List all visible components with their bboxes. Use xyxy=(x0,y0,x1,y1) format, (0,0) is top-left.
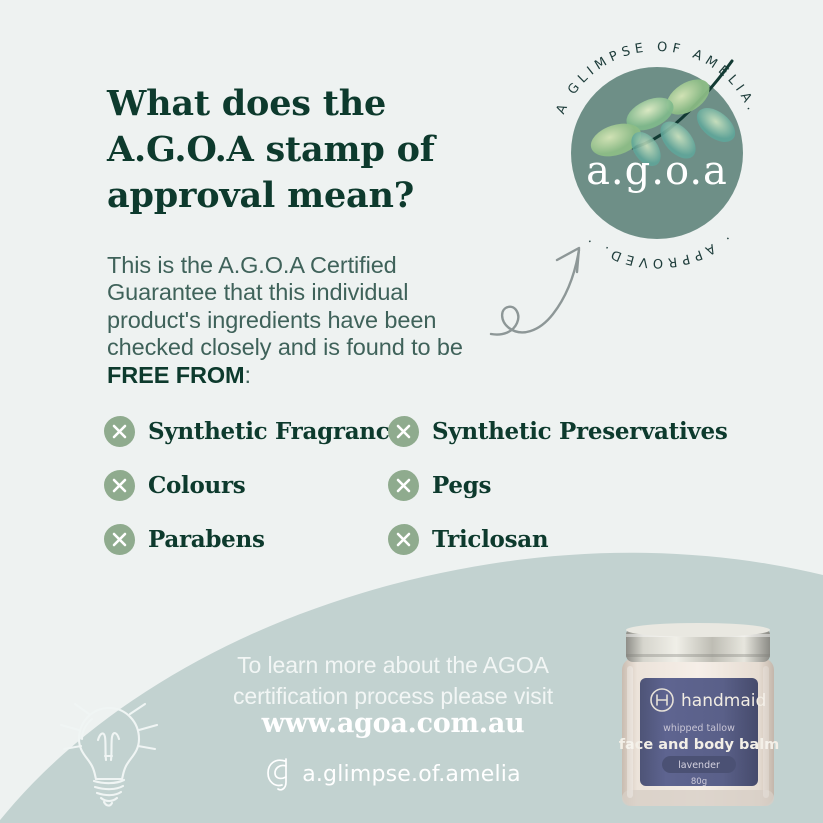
intro-paragraph: This is the A.G.O.A Certified Guarantee … xyxy=(107,252,499,390)
free-from-checklist: Synthetic Fragrance Synthetic Preservati… xyxy=(104,404,744,566)
product-name: face and body balm xyxy=(619,737,780,753)
at-monogram-icon xyxy=(265,752,295,797)
brand-name: handmaid xyxy=(681,691,766,711)
page-title: What does the A.G.O.A stamp of approval … xyxy=(107,81,527,219)
lightbulb-icon xyxy=(48,694,170,812)
checklist-label: Pegs xyxy=(432,472,491,499)
product-jar-image: handmaid whipped tallow face and body ba… xyxy=(600,614,796,823)
intro-lead: This is the A.G.O.A Certified Guarantee … xyxy=(107,252,463,361)
checklist-label: Colours xyxy=(148,472,245,499)
checklist-row: Synthetic Fragrance Synthetic Preservati… xyxy=(104,404,744,458)
free-from-emphasis: FREE FROM xyxy=(107,362,244,388)
checklist-item: Colours xyxy=(104,470,388,501)
checklist-item: Synthetic Preservatives xyxy=(388,416,744,447)
cross-icon xyxy=(388,470,419,501)
product-descriptor: whipped tallow xyxy=(663,723,735,734)
cross-icon xyxy=(388,416,419,447)
checklist-item: Synthetic Fragrance xyxy=(104,416,388,447)
logo-wordmark: a.g.o.a xyxy=(586,148,728,194)
checklist-row: Parabens Triclosan xyxy=(104,512,744,566)
website-url[interactable]: www.agoa.com.au xyxy=(183,708,603,739)
banner-caption: To learn more about the AGOA certificati… xyxy=(183,650,603,712)
checklist-item: Pegs xyxy=(388,470,744,501)
cross-icon xyxy=(104,524,135,555)
checklist-label: Synthetic Preservatives xyxy=(432,418,727,445)
cross-icon xyxy=(104,416,135,447)
checklist-item: Triclosan xyxy=(388,524,744,555)
banner-caption-line-1: To learn more about the AGOA xyxy=(183,650,603,681)
product-size: 80g xyxy=(691,777,707,787)
checklist-label: Synthetic Fragrance xyxy=(148,418,404,445)
product-variant: lavender xyxy=(678,760,720,771)
cross-icon xyxy=(104,470,135,501)
instagram-handle[interactable]: a.glimpse.of.amelia xyxy=(183,752,603,797)
checklist-row: Colours Pegs xyxy=(104,458,744,512)
handle-text: a.glimpse.of.amelia xyxy=(302,762,521,787)
checklist-item: Parabens xyxy=(104,524,388,555)
curly-arrow-icon xyxy=(487,222,607,342)
checklist-label: Parabens xyxy=(148,526,265,553)
cross-icon xyxy=(388,524,419,555)
intro-trailing: : xyxy=(244,362,250,388)
infographic-canvas: What does the A.G.O.A stamp of approval … xyxy=(0,0,823,823)
checklist-label: Triclosan xyxy=(432,526,548,553)
